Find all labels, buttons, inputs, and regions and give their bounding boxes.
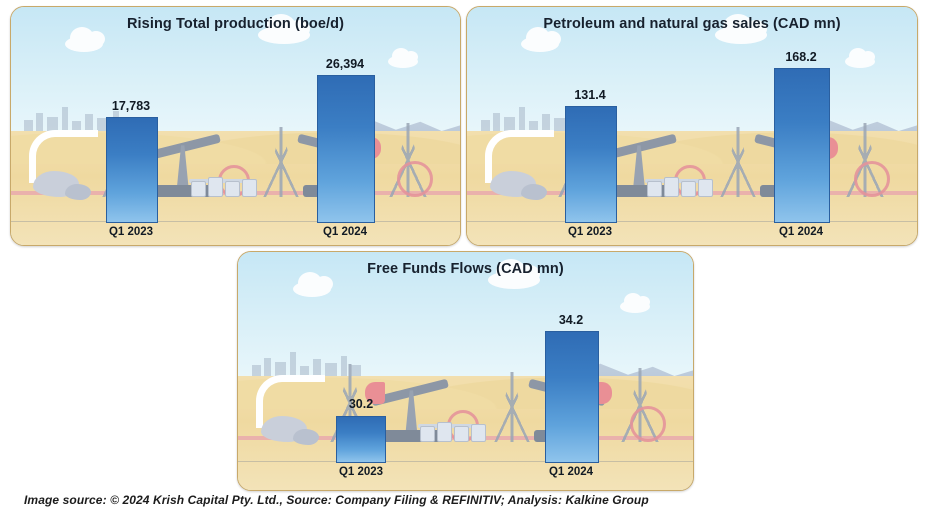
bar-q1-2024 xyxy=(545,331,599,463)
chart-baseline xyxy=(467,221,917,222)
bar-chart-free-funds-flows: Free Funds Flows (CAD mn) 30.2 Q1 2023 3… xyxy=(238,252,693,490)
bar-value-q1-2024: 26,394 xyxy=(305,57,385,71)
source-footnote: Image source: © 2024 Krish Capital Pty. … xyxy=(24,493,649,507)
panel-title: Petroleum and natural gas sales (CAD mn) xyxy=(467,16,917,32)
category-label-q1-2024: Q1 2024 xyxy=(761,226,841,238)
bar-chart-sales: Petroleum and natural gas sales (CAD mn)… xyxy=(467,7,917,245)
bar-chart-production: Rising Total production (boe/d) 17,783 Q… xyxy=(11,7,460,245)
category-label-q1-2023: Q1 2023 xyxy=(91,226,171,238)
category-label-q1-2023: Q1 2023 xyxy=(550,226,630,238)
chart-panel-production: Rising Total production (boe/d) 17,783 Q… xyxy=(10,6,461,246)
bar-value-q1-2023: 17,783 xyxy=(91,99,171,113)
bar-q1-2023 xyxy=(336,416,386,463)
infographic-canvas: Rising Total production (boe/d) 17,783 Q… xyxy=(0,0,927,515)
chart-baseline xyxy=(238,461,693,462)
bar-value-q1-2023: 30.2 xyxy=(321,397,401,411)
category-label-q1-2023: Q1 2023 xyxy=(321,466,401,478)
bar-value-q1-2024: 34.2 xyxy=(531,313,611,327)
panel-title: Rising Total production (boe/d) xyxy=(11,16,460,32)
bar-q1-2023 xyxy=(565,106,617,223)
bar-value-q1-2024: 168.2 xyxy=(761,50,841,64)
bar-q1-2023 xyxy=(106,117,158,223)
category-label-q1-2024: Q1 2024 xyxy=(531,466,611,478)
chart-baseline xyxy=(11,221,460,222)
bar-q1-2024 xyxy=(774,68,830,223)
panel-title: Free Funds Flows (CAD mn) xyxy=(238,261,693,277)
category-label-q1-2024: Q1 2024 xyxy=(305,226,385,238)
bar-value-q1-2023: 131.4 xyxy=(550,88,630,102)
chart-panel-sales: Petroleum and natural gas sales (CAD mn)… xyxy=(466,6,918,246)
chart-panel-free-funds-flows: Free Funds Flows (CAD mn) 30.2 Q1 2023 3… xyxy=(237,251,694,491)
bar-q1-2024 xyxy=(317,75,375,223)
